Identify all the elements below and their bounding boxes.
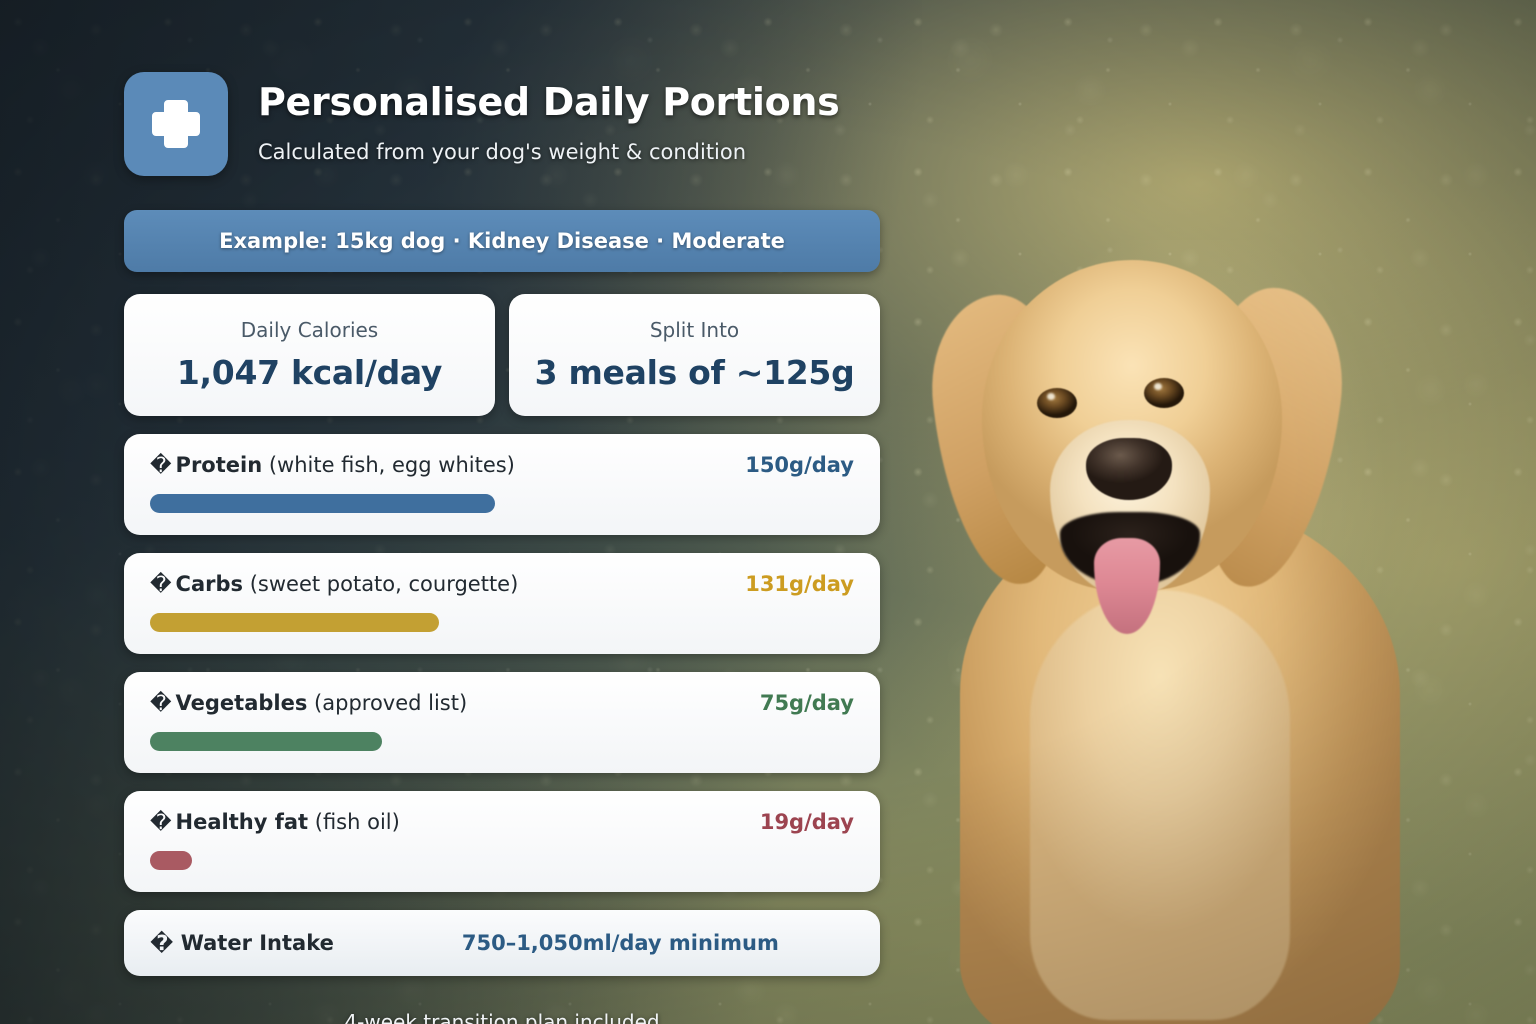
meat-icon: �	[150, 453, 172, 477]
stat-card-daily-calories: Daily Calories 1,047 kcal/day	[124, 294, 495, 416]
grain-icon: �	[150, 572, 172, 596]
nutrient-label: �Protein (white fish, egg whites)	[150, 453, 515, 477]
header-text-block: Personalised Daily Portions Calculated f…	[258, 72, 839, 164]
panel-header: Personalised Daily Portions Calculated f…	[124, 72, 880, 176]
nutrient-bar-fill	[150, 851, 192, 870]
nutrient-value: 150g/day	[745, 453, 854, 477]
page-subtitle: Calculated from your dog's weight & cond…	[258, 140, 839, 164]
stat-label: Split Into	[650, 318, 739, 342]
nutrient-value: 131g/day	[745, 572, 854, 596]
nutrient-row: �Vegetables (approved list)75g/day	[124, 672, 880, 773]
stat-value: 1,047 kcal/day	[177, 353, 442, 392]
broccoli-icon: �	[150, 691, 172, 715]
panel-footer: 4-week transition plan included Canine H…	[124, 1010, 880, 1024]
water-intake-value: 750–1,050ml/day minimum	[462, 931, 779, 955]
nutrient-detail: (approved list)	[314, 691, 467, 715]
example-profile-badge-label: Example: 15kg dog · Kidney Disease · Mod…	[219, 229, 785, 253]
water-drop-icon: �	[150, 931, 173, 955]
nutrient-row: �Protein (white fish, egg whites)150g/da…	[124, 434, 880, 535]
nutrient-bar-track	[150, 494, 854, 513]
nutrient-bar-fill	[150, 613, 439, 632]
page-title: Personalised Daily Portions	[258, 80, 839, 124]
stat-label: Daily Calories	[241, 318, 378, 342]
nutrient-bar-track	[150, 851, 854, 870]
nutrient-label: �Healthy fat (fish oil)	[150, 810, 400, 834]
water-intake-row: � Water Intake 750–1,050ml/day minimum	[124, 910, 880, 976]
nutrient-bar-fill	[150, 494, 495, 513]
nutrient-value: 19g/day	[760, 810, 854, 834]
nutrient-value: 75g/day	[760, 691, 854, 715]
nutrient-detail: (sweet potato, courgette)	[250, 572, 519, 596]
water-intake-name: Water Intake	[181, 931, 334, 955]
nutrient-detail: (fish oil)	[315, 810, 400, 834]
nutrient-name: Carbs	[176, 572, 243, 596]
nutrient-bar-fill	[150, 732, 382, 751]
stat-card-split-into: Split Into 3 meals of ~125g	[509, 294, 880, 416]
nutrient-header: �Carbs (sweet potato, courgette)131g/day	[150, 572, 854, 596]
nutrient-header: �Healthy fat (fish oil)19g/day	[150, 810, 854, 834]
nutrient-header: �Vegetables (approved list)75g/day	[150, 691, 854, 715]
portions-panel: Personalised Daily Portions Calculated f…	[124, 72, 880, 1024]
oil-drop-icon: �	[150, 810, 172, 834]
nutrient-detail: (white fish, egg whites)	[269, 453, 515, 477]
nutrient-bar-track	[150, 613, 854, 632]
medical-cross-icon	[124, 72, 228, 176]
water-intake-label: � Water Intake	[150, 931, 334, 955]
nutrient-row: �Healthy fat (fish oil)19g/day	[124, 791, 880, 892]
nutrient-header: �Protein (white fish, egg whites)150g/da…	[150, 453, 854, 477]
nutrient-name: Vegetables	[176, 691, 308, 715]
example-profile-badge: Example: 15kg dog · Kidney Disease · Mod…	[124, 210, 880, 272]
nutrient-bar-track	[150, 732, 854, 751]
nutrient-list: �Protein (white fish, egg whites)150g/da…	[124, 434, 880, 892]
nutrient-name: Healthy fat	[176, 810, 309, 834]
summary-stats-row: Daily Calories 1,047 kcal/day Split Into…	[124, 294, 880, 416]
nutrient-label: �Carbs (sweet potato, courgette)	[150, 572, 518, 596]
nutrient-row: �Carbs (sweet potato, courgette)131g/day	[124, 553, 880, 654]
nutrient-name: Protein	[176, 453, 263, 477]
stat-value: 3 meals of ~125g	[535, 353, 855, 392]
nutrient-label: �Vegetables (approved list)	[150, 691, 467, 715]
footer-transition-note: 4-week transition plan included	[124, 1010, 880, 1024]
